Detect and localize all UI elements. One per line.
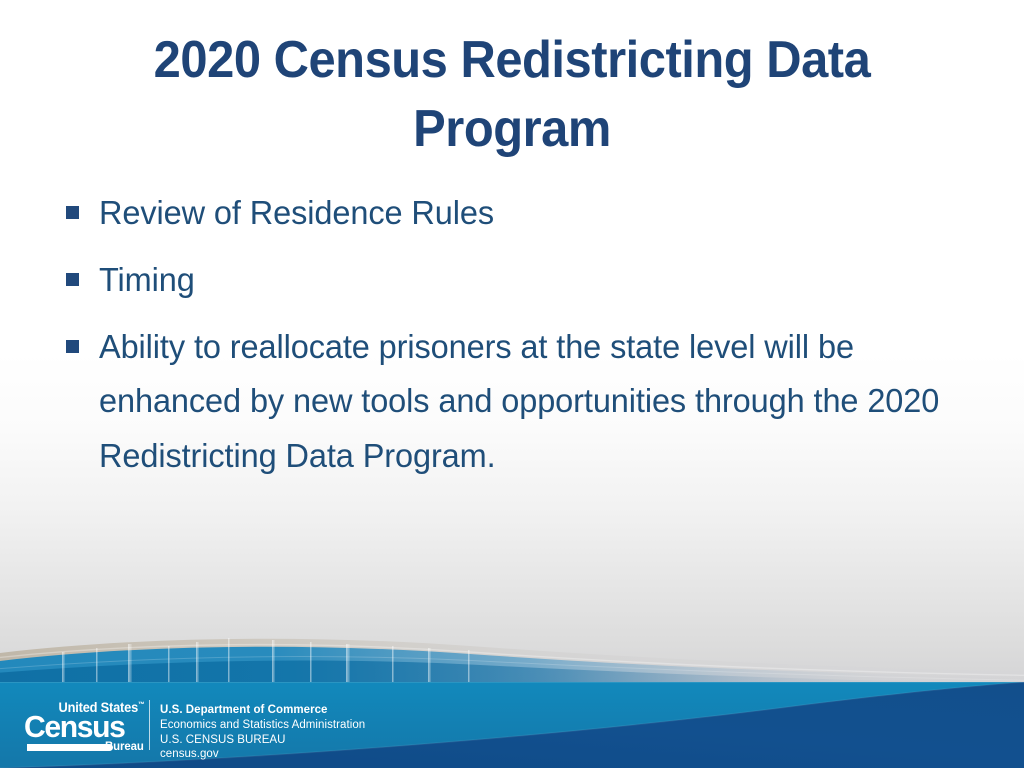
- page-title: 2020 Census Redistricting Data Program: [89, 26, 935, 163]
- agency-administration-line: Economics and Statistics Administration: [160, 718, 365, 733]
- trademark-icon: ™: [138, 702, 144, 709]
- slide: 2020 Census Redistricting Data Program R…: [0, 0, 1024, 768]
- list-item-text: Timing: [99, 253, 977, 308]
- bullet-square-icon: [66, 273, 79, 286]
- list-item: Ability to reallocate prisoners at the s…: [60, 320, 990, 484]
- logo-divider: [149, 700, 150, 750]
- bullet-list: Review of Residence Rules Timing Ability…: [60, 186, 990, 496]
- bullet-square-icon: [66, 340, 79, 353]
- list-item: Timing: [60, 253, 990, 308]
- logo-rule-bar: [27, 744, 113, 751]
- decorative-wave-band: [0, 612, 1024, 688]
- logo-census-wordmark: Census: [24, 711, 124, 742]
- agency-bureau-line: U.S. CENSUS BUREAU: [160, 733, 365, 748]
- agency-website-line: census.gov: [160, 747, 365, 762]
- bullet-square-icon: [66, 206, 79, 219]
- agency-department-line: U.S. Department of Commerce: [160, 703, 365, 718]
- agency-text-block: U.S. Department of Commerce Economics an…: [160, 703, 365, 762]
- footer-bar: [0, 682, 1024, 768]
- footer-curve-graphic: [0, 682, 1024, 768]
- logo-bureau-label: Bureau: [105, 740, 144, 752]
- list-item-text: Review of Residence Rules: [99, 186, 977, 241]
- census-bureau-logo: United States™ Census Bureau: [26, 700, 144, 752]
- list-item-text: Ability to reallocate prisoners at the s…: [99, 320, 966, 484]
- list-item: Review of Residence Rules: [60, 186, 990, 241]
